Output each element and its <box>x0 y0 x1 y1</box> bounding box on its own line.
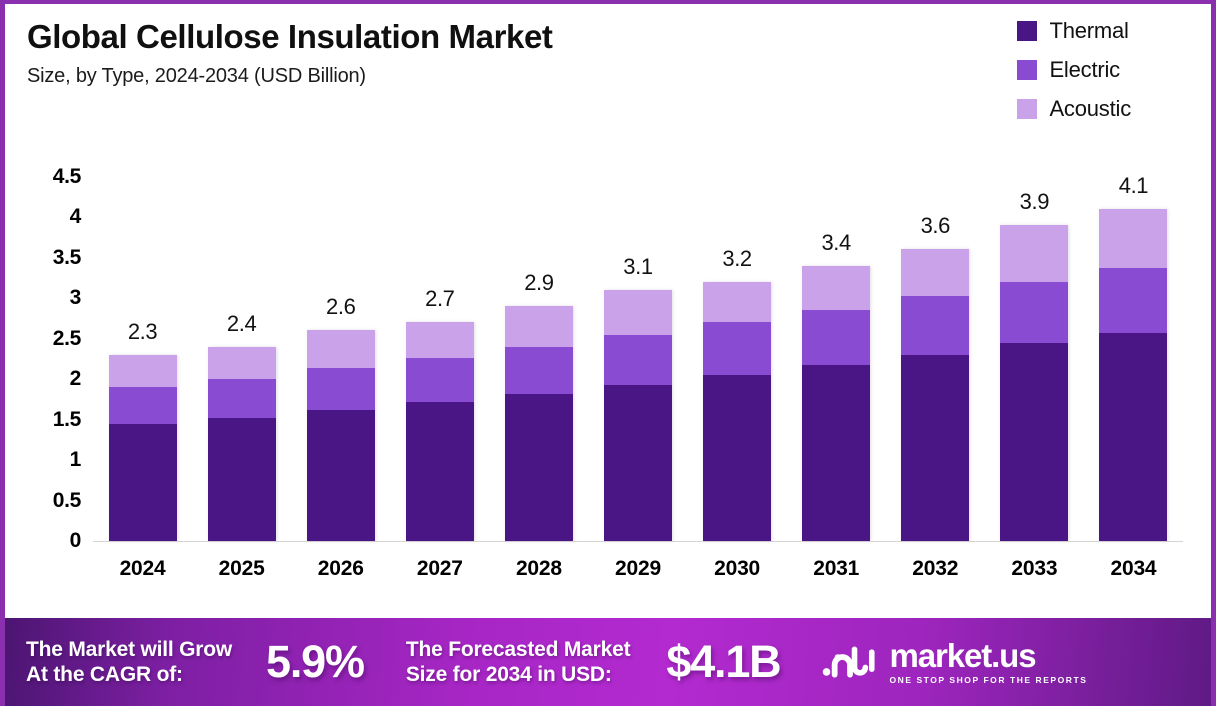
forecast-caption: The Forecasted Market Size for 2034 in U… <box>406 637 631 687</box>
bar-segment-electric[interactable] <box>703 322 771 375</box>
forecast-value: $4.1B <box>666 636 780 688</box>
bar-group[interactable]: 2.7 <box>406 141 474 541</box>
bar-group[interactable]: 3.4 <box>802 141 870 541</box>
stacked-bar[interactable] <box>1099 209 1167 541</box>
y-axis-tick-label: 0.5 <box>53 489 81 513</box>
bar-total-label: 3.2 <box>722 246 751 272</box>
bars-container: 2.32.42.62.72.93.13.23.43.63.94.1 <box>93 154 1189 554</box>
stacked-bar[interactable] <box>802 266 870 541</box>
bar-segment-electric[interactable] <box>1099 268 1167 333</box>
bar-segment-acoustic[interactable] <box>901 249 969 296</box>
brand-text: market.us ONE STOP SHOP FOR THE REPORTS <box>889 639 1087 685</box>
stacked-bar[interactable] <box>208 347 276 541</box>
y-axis-tick-label: 4 <box>70 205 81 229</box>
cagr-caption: The Market will Grow At the CAGR of: <box>26 637 232 687</box>
x-axis: 2024202520262027202820292030203120322033… <box>93 557 1189 591</box>
y-axis-tick-label: 0 <box>70 529 81 553</box>
bar-segment-acoustic[interactable] <box>505 306 573 347</box>
bar-segment-acoustic[interactable] <box>802 266 870 311</box>
bar-segment-acoustic[interactable] <box>208 347 276 379</box>
header: Global Cellulose Insulation Market Size,… <box>27 18 787 88</box>
legend-swatch-icon <box>1017 99 1037 119</box>
bar-group[interactable]: 3.6 <box>901 141 969 541</box>
legend-item-electric[interactable]: Electric <box>1017 59 1131 81</box>
bar-total-label: 2.6 <box>326 294 355 320</box>
legend-swatch-icon <box>1017 60 1037 80</box>
bar-segment-thermal[interactable] <box>406 402 474 541</box>
x-axis-tick-label: 2034 <box>1110 557 1156 581</box>
bar-total-label: 4.1 <box>1119 173 1148 199</box>
y-axis-tick-label: 2.5 <box>53 327 81 351</box>
y-axis-tick-label: 2 <box>70 367 81 391</box>
page-title: Global Cellulose Insulation Market <box>27 18 787 56</box>
bar-segment-electric[interactable] <box>1000 282 1068 344</box>
bar-segment-electric[interactable] <box>604 335 672 384</box>
legend-item-label: Acoustic <box>1049 98 1131 120</box>
stacked-bar[interactable] <box>406 322 474 541</box>
bar-segment-acoustic[interactable] <box>604 290 672 335</box>
bar-segment-thermal[interactable] <box>604 385 672 541</box>
stacked-bar[interactable] <box>604 290 672 541</box>
brand-tagline: ONE STOP SHOP FOR THE REPORTS <box>889 676 1087 685</box>
x-axis-tick-label: 2030 <box>714 557 760 581</box>
bar-group[interactable]: 2.9 <box>505 141 573 541</box>
bar-segment-thermal[interactable] <box>505 394 573 541</box>
cagr-value: 5.9% <box>266 636 364 688</box>
bar-segment-acoustic[interactable] <box>307 330 375 367</box>
bar-total-label: 2.9 <box>524 270 553 296</box>
bar-segment-electric[interactable] <box>802 310 870 365</box>
bar-group[interactable]: 3.9 <box>1000 141 1068 541</box>
bar-group[interactable]: 2.4 <box>208 141 276 541</box>
bar-segment-thermal[interactable] <box>109 424 177 541</box>
brand-logo: market.us ONE STOP SHOP FOR THE REPORTS <box>822 639 1087 685</box>
legend-item-acoustic[interactable]: Acoustic <box>1017 98 1131 120</box>
bar-segment-thermal[interactable] <box>208 418 276 541</box>
x-axis-tick-label: 2029 <box>615 557 661 581</box>
stacked-bar[interactable] <box>901 249 969 541</box>
x-axis-tick-label: 2024 <box>120 557 166 581</box>
bar-segment-acoustic[interactable] <box>1099 209 1167 268</box>
bar-group[interactable]: 2.6 <box>307 141 375 541</box>
bar-segment-electric[interactable] <box>208 379 276 418</box>
bar-total-label: 3.6 <box>921 213 950 239</box>
chart-plot-area: 00.511.522.533.544.5 2.32.42.62.72.93.13… <box>5 154 1216 554</box>
bar-segment-electric[interactable] <box>406 358 474 403</box>
stacked-bar[interactable] <box>109 355 177 541</box>
bar-total-label: 2.7 <box>425 286 454 312</box>
x-axis-tick-label: 2028 <box>516 557 562 581</box>
market-us-mark-icon <box>822 644 878 680</box>
bar-segment-thermal[interactable] <box>802 365 870 541</box>
brand-name: market.us <box>889 639 1087 672</box>
stacked-bar[interactable] <box>703 282 771 541</box>
bar-segment-electric[interactable] <box>307 368 375 410</box>
bar-group[interactable]: 3.2 <box>703 141 771 541</box>
x-axis-tick-label: 2027 <box>417 557 463 581</box>
bar-group[interactable]: 4.1 <box>1099 141 1167 541</box>
bar-segment-electric[interactable] <box>505 347 573 394</box>
bar-total-label: 3.4 <box>821 230 850 256</box>
bar-total-label: 3.9 <box>1020 189 1049 215</box>
x-axis-tick-label: 2025 <box>219 557 265 581</box>
bar-group[interactable]: 3.1 <box>604 141 672 541</box>
legend-swatch-icon <box>1017 21 1037 41</box>
bar-segment-thermal[interactable] <box>1000 343 1068 541</box>
y-axis-tick-label: 3 <box>70 286 81 310</box>
y-axis: 00.511.522.533.544.5 <box>25 154 81 554</box>
bar-segment-acoustic[interactable] <box>109 355 177 387</box>
legend-item-label: Electric <box>1049 59 1120 81</box>
bar-segment-acoustic[interactable] <box>703 282 771 323</box>
bar-total-label: 2.3 <box>128 319 157 345</box>
x-axis-tick-label: 2033 <box>1011 557 1057 581</box>
x-axis-tick-label: 2032 <box>912 557 958 581</box>
bar-group[interactable]: 2.3 <box>109 141 177 541</box>
bar-segment-thermal[interactable] <box>307 410 375 541</box>
page-subtitle: Size, by Type, 2024-2034 (USD Billion) <box>27 65 787 88</box>
infographic-root: Global Cellulose Insulation Market Size,… <box>0 0 1216 706</box>
footer-banner: The Market will Grow At the CAGR of: 5.9… <box>0 618 1216 706</box>
stacked-bar[interactable] <box>1000 225 1068 541</box>
bar-segment-thermal[interactable] <box>901 355 969 541</box>
stacked-bar[interactable] <box>505 306 573 541</box>
bar-segment-acoustic[interactable] <box>406 322 474 358</box>
bar-segment-thermal[interactable] <box>703 375 771 541</box>
chart-legend: ThermalElectricAcoustic <box>1017 20 1131 120</box>
bar-segment-thermal[interactable] <box>1099 333 1167 541</box>
bar-segment-acoustic[interactable] <box>1000 225 1068 282</box>
x-axis-tick-label: 2031 <box>813 557 859 581</box>
bar-segment-electric[interactable] <box>901 296 969 354</box>
legend-item-thermal[interactable]: Thermal <box>1017 20 1131 42</box>
bar-total-label: 3.1 <box>623 254 652 280</box>
y-axis-tick-label: 4.5 <box>53 165 81 189</box>
bar-total-label: 2.4 <box>227 311 256 337</box>
y-axis-tick-label: 3.5 <box>53 246 81 270</box>
legend-item-label: Thermal <box>1049 20 1128 42</box>
bar-segment-electric[interactable] <box>109 387 177 423</box>
y-axis-tick-label: 1.5 <box>53 408 81 432</box>
stacked-bar[interactable] <box>307 330 375 541</box>
x-axis-tick-label: 2026 <box>318 557 364 581</box>
y-axis-tick-label: 1 <box>70 448 81 472</box>
